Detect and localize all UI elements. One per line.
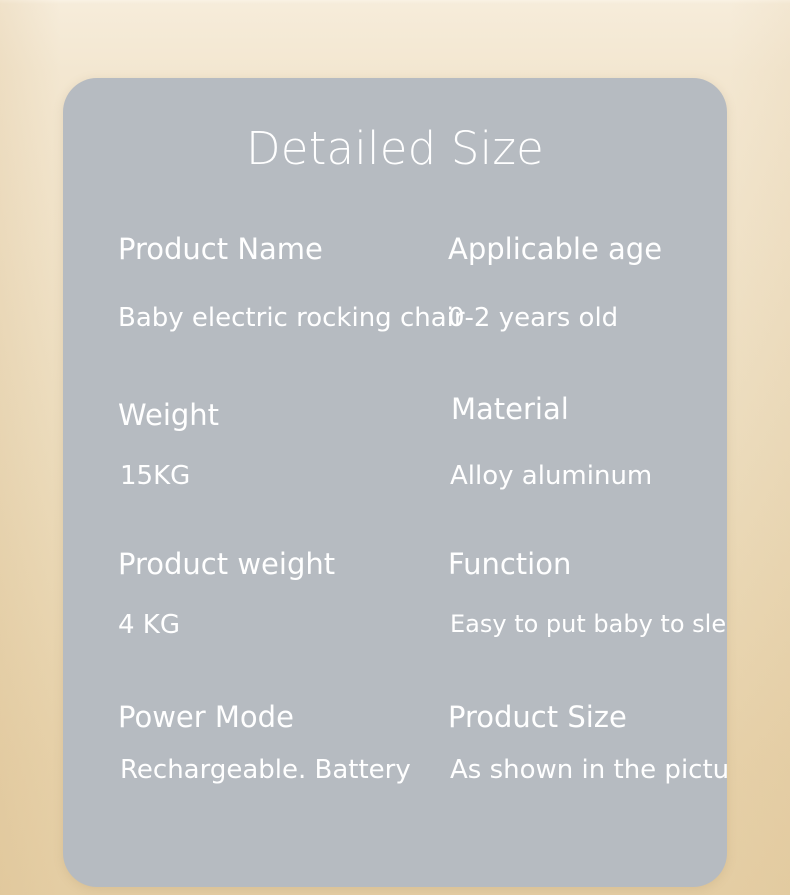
spec-value-product-name: Baby electric rocking chair bbox=[118, 305, 465, 331]
spec-label-material: Material bbox=[451, 395, 569, 424]
spec-label-applicable-age: Applicable age bbox=[448, 235, 662, 264]
spec-value-product-size: As shown in the picture bbox=[450, 757, 727, 783]
page-title: Detailed Size bbox=[63, 126, 727, 171]
spec-label-power-mode: Power Mode bbox=[118, 703, 294, 732]
spec-value-function: Easy to put baby to sleep bbox=[450, 612, 727, 636]
spec-value-weight: 15KG bbox=[120, 463, 190, 489]
spec-label-product-size: Product Size bbox=[448, 703, 627, 732]
spec-value-material: Alloy aluminum bbox=[450, 463, 652, 489]
spec-value-applicable-age: 0-2 years old bbox=[448, 305, 618, 331]
spec-value-product-weight: 4 KG bbox=[118, 612, 180, 638]
spec-label-product-weight: Product weight bbox=[118, 550, 335, 579]
product-spec-page: Detailed Size Product Name Baby electric… bbox=[0, 0, 790, 895]
spec-label-weight: Weight bbox=[118, 401, 219, 430]
spec-label-product-name: Product Name bbox=[118, 235, 323, 264]
detailed-size-card: Detailed Size Product Name Baby electric… bbox=[63, 78, 727, 887]
spec-label-function: Function bbox=[448, 550, 571, 579]
spec-value-power-mode: Rechargeable. Battery bbox=[120, 757, 411, 783]
